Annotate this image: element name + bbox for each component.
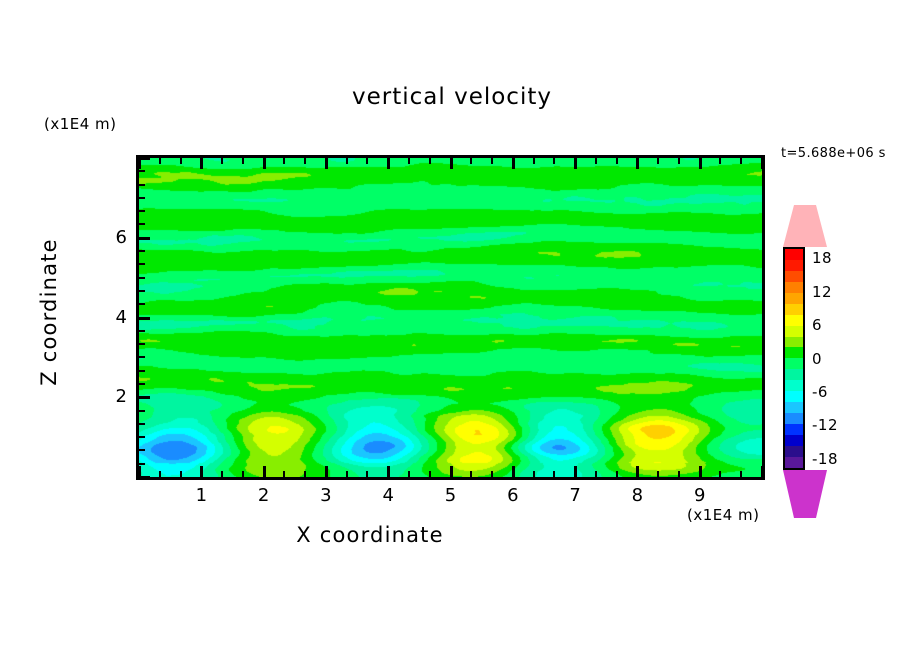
axis-tick <box>678 471 680 477</box>
axis-tick <box>533 158 535 164</box>
page-title: vertical velocity <box>0 84 904 110</box>
axis-tick <box>200 158 203 169</box>
axis-tick <box>139 210 145 212</box>
axis-tick <box>678 158 680 164</box>
z-axis-unit-label: (x1E4 m) <box>44 115 117 133</box>
axis-tick <box>429 158 431 164</box>
colorbar-band <box>785 326 803 337</box>
axis-tick <box>636 158 639 169</box>
time-stamp-annotation: t=5.688e+06 s <box>781 146 886 161</box>
colorbar-tick-label: -12 <box>812 416 838 434</box>
axis-tick <box>366 158 368 164</box>
colorbar-band <box>785 358 803 369</box>
vertical-velocity-field <box>139 158 762 477</box>
colorbar-band <box>785 435 803 446</box>
colorbar-tick-label: 12 <box>812 283 832 301</box>
axis-tick <box>719 158 721 164</box>
x-tick-label: 1 <box>186 485 216 506</box>
axis-tick <box>283 158 285 164</box>
colorbar-band <box>785 304 803 315</box>
axis-tick <box>574 158 577 169</box>
colorbar-band <box>785 402 803 413</box>
axis-tick <box>553 158 555 164</box>
axis-tick <box>636 466 639 477</box>
axis-tick <box>221 471 223 477</box>
axis-tick <box>180 158 182 164</box>
x-tick-label: 3 <box>311 485 341 506</box>
axis-tick <box>139 396 150 399</box>
colorbar-tick-label: 0 <box>812 350 822 368</box>
colorbar-tick-label: -18 <box>812 450 838 468</box>
z-tick-label: 2 <box>97 386 127 407</box>
axis-tick <box>346 471 348 477</box>
axis-tick <box>139 383 145 385</box>
x-tick-label: 5 <box>436 485 466 506</box>
axis-tick <box>346 158 348 164</box>
axis-tick <box>139 330 145 332</box>
colorbar-band <box>785 446 803 457</box>
axis-tick <box>304 158 306 164</box>
colorbar-band <box>785 282 803 293</box>
axis-tick <box>139 303 145 305</box>
axis-tick <box>263 158 266 169</box>
axis-tick <box>595 471 597 477</box>
axis-tick <box>242 471 244 477</box>
colorbar-band <box>785 249 803 260</box>
colorbar-band <box>785 457 803 468</box>
axis-tick <box>325 466 328 477</box>
x-tick-label: 2 <box>249 485 279 506</box>
axis-tick <box>761 466 764 477</box>
axis-tick <box>574 466 577 477</box>
colorbar-over-arrow <box>783 205 827 247</box>
axis-tick <box>139 170 145 172</box>
axis-tick <box>450 466 453 477</box>
axis-tick <box>139 277 145 279</box>
axis-tick <box>200 466 203 477</box>
axis-tick <box>325 158 328 169</box>
colorbar-band <box>785 391 803 402</box>
axis-tick <box>139 223 145 225</box>
colorbar-tick-label: 18 <box>812 249 832 267</box>
colorbar-under-arrow <box>783 470 827 518</box>
axis-tick <box>139 317 150 320</box>
axis-tick <box>699 158 702 169</box>
axis-tick <box>139 250 145 252</box>
axis-tick <box>139 423 145 425</box>
axis-tick <box>139 263 145 265</box>
x-tick-label: 6 <box>498 485 528 506</box>
axis-tick <box>304 471 306 477</box>
contour-plot-area <box>136 155 765 480</box>
axis-tick <box>139 237 150 240</box>
x-axis-unit-label: (x1E4 m) <box>687 506 760 524</box>
axis-tick <box>699 466 702 477</box>
colorbar-band <box>785 380 803 391</box>
axis-tick <box>139 184 145 186</box>
axis-tick <box>221 158 223 164</box>
axis-tick <box>387 466 390 477</box>
x-tick-label: 8 <box>622 485 652 506</box>
axis-tick <box>139 197 145 199</box>
axis-tick <box>139 436 145 438</box>
axis-tick <box>408 158 410 164</box>
colorbar-band <box>785 413 803 424</box>
axis-tick <box>139 410 145 412</box>
axis-tick <box>139 463 145 465</box>
colorbar-band <box>785 260 803 271</box>
axis-tick <box>159 471 161 477</box>
axis-tick <box>719 471 721 477</box>
axis-tick <box>366 471 368 477</box>
axis-tick <box>429 471 431 477</box>
axis-tick <box>139 476 150 479</box>
axis-tick <box>657 471 659 477</box>
axis-tick <box>387 158 390 169</box>
z-axis-title: Z coordinate <box>37 232 61 392</box>
axis-tick <box>139 343 145 345</box>
colorbar-band <box>785 271 803 282</box>
axis-tick <box>139 449 145 451</box>
axis-tick <box>657 158 659 164</box>
axis-tick <box>139 356 145 358</box>
x-axis-title: X coordinate <box>0 523 740 547</box>
axis-tick <box>408 471 410 477</box>
axis-tick <box>180 471 182 477</box>
x-tick-label: 7 <box>560 485 590 506</box>
axis-tick <box>263 466 266 477</box>
z-tick-label: 4 <box>97 307 127 328</box>
axis-tick <box>491 471 493 477</box>
axis-tick <box>491 158 493 164</box>
colorbar <box>783 247 805 470</box>
axis-tick <box>159 158 161 164</box>
axis-tick <box>512 466 515 477</box>
axis-tick <box>616 158 618 164</box>
colorbar-band <box>785 424 803 435</box>
axis-tick <box>595 158 597 164</box>
axis-tick <box>242 158 244 164</box>
x-tick-label: 4 <box>373 485 403 506</box>
axis-tick <box>512 158 515 169</box>
axis-tick <box>450 158 453 169</box>
colorbar-band <box>785 315 803 326</box>
axis-tick <box>139 157 150 160</box>
axis-tick <box>553 471 555 477</box>
axis-tick <box>470 158 472 164</box>
axis-tick <box>139 370 145 372</box>
axis-tick <box>761 158 764 169</box>
axis-tick <box>740 471 742 477</box>
axis-tick <box>740 158 742 164</box>
z-tick-label: 6 <box>97 227 127 248</box>
colorbar-tick-label: -6 <box>812 383 828 401</box>
axis-tick <box>283 471 285 477</box>
colorbar-band <box>785 337 803 348</box>
colorbar-band <box>785 347 803 358</box>
axis-tick <box>139 290 145 292</box>
colorbar-band <box>785 293 803 304</box>
axis-tick <box>533 471 535 477</box>
figure-canvas: vertical velocity (x1E4 m) (x1E4 m) t=5.… <box>0 0 904 654</box>
x-tick-label: 9 <box>685 485 715 506</box>
colorbar-tick-label: 6 <box>812 316 822 334</box>
colorbar-band <box>785 369 803 380</box>
axis-tick <box>616 471 618 477</box>
axis-tick <box>470 471 472 477</box>
